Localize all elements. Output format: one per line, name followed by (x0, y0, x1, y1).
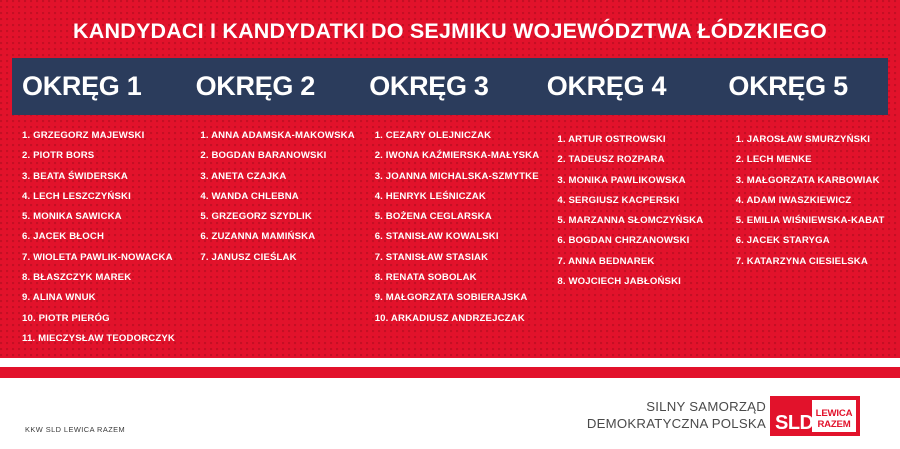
slogan-line-1: SILNY SAMORZĄD (587, 398, 766, 415)
list-item: 9. MAŁGORZATA SOBIERAJSKA (375, 288, 540, 308)
committee-label: KKW SLD LEWICA RAZEM (25, 425, 125, 434)
list-item: 1. JAROSŁAW SMURZYŃSKI (736, 130, 888, 150)
sld-wordmark: SLD (775, 413, 814, 433)
list-item: 10. PIOTR PIERÓG (22, 309, 186, 329)
candidate-column-1: 1. GRZEGORZ MAJEWSKI 2. PIOTR BORS 3. BE… (12, 126, 186, 351)
list-item: 6. JACEK STARYGA (736, 231, 888, 251)
list-item: 6. BOGDAN CHRZANOWSKI (557, 231, 713, 251)
page-title: KANDYDACI I KANDYDATKI DO SEJMIKU WOJEWÓ… (73, 19, 827, 44)
red-divider-stripe (0, 367, 900, 378)
candidate-list-4: 1. ARTUR OSTROWSKI 2. TADEUSZ ROZPARA 3.… (539, 126, 713, 292)
candidate-list-1: 1. GRZEGORZ MAJEWSKI 2. PIOTR BORS 3. BE… (12, 126, 186, 349)
list-item: 4. WANDA CHLEBNA (200, 187, 360, 207)
list-item: 10. ARKADIUSZ ANDRZEJCZAK (375, 309, 540, 329)
list-item: 8. WOJCIECH JABŁOŃSKI (557, 272, 713, 292)
list-item: 7. ANNA BEDNAREK (557, 252, 713, 272)
poster-root: KANDYDACI I KANDYDATKI DO SEJMIKU WOJEWÓ… (0, 0, 900, 449)
list-item: 8. RENATA SOBOLAK (375, 268, 540, 288)
list-item: 3. MAŁGORZATA KARBOWIAK (736, 171, 888, 191)
white-divider-band (0, 358, 900, 367)
district-header-label: OKRĘG 2 (196, 71, 315, 102)
campaign-slogan: SILNY SAMORZĄD DEMOKRATYCZNA POLSKA (587, 398, 766, 432)
list-item: 4. ADAM IWASZKIEWICZ (736, 191, 888, 211)
list-item: 1. ANNA ADAMSKA-MAKOWSKA (200, 126, 360, 146)
list-item: 1. GRZEGORZ MAJEWSKI (22, 126, 186, 146)
list-item: 2. IWONA KAŹMIERSKA-MAŁYSKA (375, 146, 540, 166)
list-item: 9. ALINA WNUK (22, 288, 186, 308)
candidate-column-2: 1. ANNA ADAMSKA-MAKOWSKA 2. BOGDAN BARAN… (186, 126, 360, 351)
list-item: 5. EMILIA WIŚNIEWSKA-KABAT (736, 211, 888, 231)
list-item: 4. SERGIUSZ KACPERSKI (557, 191, 713, 211)
list-item: 6. STANISŁAW KOWALSKI (375, 227, 540, 247)
list-item: 3. BEATA ŚWIDERSKA (22, 167, 186, 187)
list-item: 2. TADEUSZ ROZPARA (557, 150, 713, 170)
district-header-label: OKRĘG 4 (547, 71, 666, 102)
district-header-4: OKRĘG 4 (529, 58, 707, 115)
list-item: 7. KATARZYNA CIESIELSKA (736, 252, 888, 272)
list-item: 4. LECH LESZCZYŃSKI (22, 187, 186, 207)
list-item: 5. MONIKA SAWICKA (22, 207, 186, 227)
candidate-columns: 1. GRZEGORZ MAJEWSKI 2. PIOTR BORS 3. BE… (12, 126, 888, 351)
list-item: 7. JANUSZ CIEŚLAK (200, 248, 360, 268)
district-header-1: OKRĘG 1 (12, 58, 182, 115)
list-item: 5. BOŻENA CEGLARSKA (375, 207, 540, 227)
list-item: 2. LECH MENKE (736, 150, 888, 170)
district-header-3: OKRĘG 3 (355, 58, 529, 115)
list-item: 6. JACEK BŁOCH (22, 227, 186, 247)
list-item: 5. GRZEGORZ SZYDLIK (200, 207, 360, 227)
district-header-5: OKRĘG 5 (706, 58, 888, 115)
list-item: 6. ZUZANNA MAMIŃSKA (200, 227, 360, 247)
slogan-line-2: DEMOKRATYCZNA POLSKA (587, 415, 766, 432)
district-header-label: OKRĘG 5 (728, 71, 847, 102)
list-item: 2. BOGDAN BARANOWSKI (200, 146, 360, 166)
lewica-razem-box: LEWICA RAZEM (812, 400, 856, 432)
lewica-text: LEWICA (816, 408, 853, 419)
candidate-list-2: 1. ANNA ADAMSKA-MAKOWSKA 2. BOGDAN BARAN… (186, 126, 360, 268)
candidate-column-3: 1. CEZARY OLEJNICZAK 2. IWONA KAŹMIERSKA… (361, 126, 540, 351)
list-item: 5. MARZANNA SŁOMCZYŃSKA (557, 211, 713, 231)
district-header-label: OKRĘG 1 (22, 71, 141, 102)
list-item: 11. MIECZYSŁAW TEODORCZYK (22, 329, 186, 349)
candidate-column-5: 1. JAROSŁAW SMURZYŃSKI 2. LECH MENKE 3. … (714, 126, 888, 351)
district-header-2: OKRĘG 2 (182, 58, 356, 115)
list-item: 3. MONIKA PAWLIKOWSKA (557, 171, 713, 191)
poster-title-bar: KANDYDACI I KANDYDATKI DO SEJMIKU WOJEWÓ… (0, 10, 900, 52)
candidate-list-3: 1. CEZARY OLEJNICZAK 2. IWONA KAŹMIERSKA… (361, 126, 540, 329)
district-header-band: OKRĘG 1 OKRĘG 2 OKRĘG 3 OKRĘG 4 OKRĘG 5 (12, 58, 888, 115)
sld-logo: SLD LEWICA RAZEM (770, 396, 860, 436)
list-item: 3. ANETA CZAJKA (200, 167, 360, 187)
razem-text: RAZEM (817, 419, 850, 430)
list-item: 3. JOANNA MICHALSKA-SZMYTKE (375, 167, 540, 187)
list-item: 1. CEZARY OLEJNICZAK (375, 126, 540, 146)
candidate-column-4: 1. ARTUR OSTROWSKI 2. TADEUSZ ROZPARA 3.… (539, 126, 713, 351)
list-item: 4. HENRYK LEŚNICZAK (375, 187, 540, 207)
district-header-label: OKRĘG 3 (369, 71, 488, 102)
list-item: 8. BŁASZCZYK MAREK (22, 268, 186, 288)
list-item: 2. PIOTR BORS (22, 146, 186, 166)
list-item: 7. WIOLETA PAWLIK-NOWACKA (22, 248, 186, 268)
list-item: 1. ARTUR OSTROWSKI (557, 130, 713, 150)
list-item: 7. STANISŁAW STASIAK (375, 248, 540, 268)
candidate-list-5: 1. JAROSŁAW SMURZYŃSKI 2. LECH MENKE 3. … (714, 126, 888, 272)
